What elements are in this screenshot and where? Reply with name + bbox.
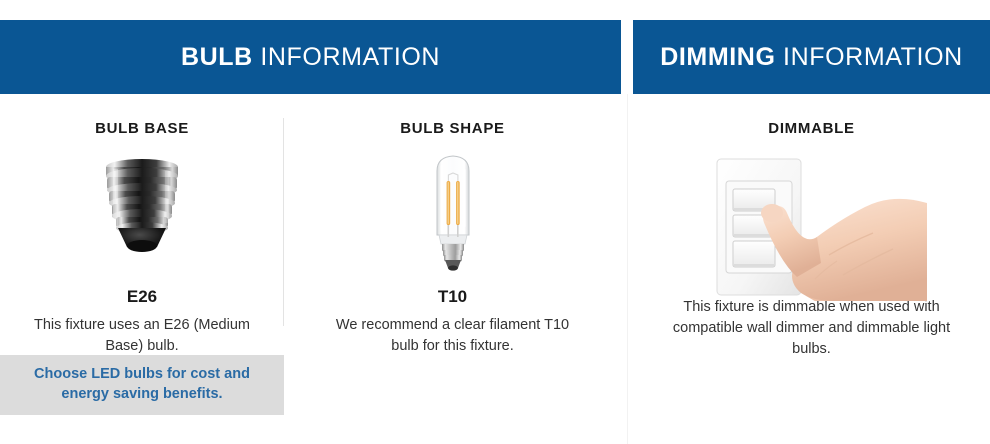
- bulb-base-value: E26: [0, 287, 284, 307]
- bulb-information-header: BULB INFORMATION: [0, 20, 621, 94]
- e26-screw-base-icon: [103, 157, 181, 255]
- dimming-information-title-strong: DIMMING: [660, 43, 775, 71]
- dimming-information-header: DIMMING INFORMATION: [633, 20, 990, 94]
- dimming-description: This fixture is dimmable when used with …: [667, 297, 957, 360]
- bulb-information-title-strong: BULB: [181, 43, 253, 71]
- bulb-shape-value: T10: [284, 287, 621, 307]
- section-divider: [627, 94, 628, 444]
- hand-pressing-wall-dimmer-icon: [697, 151, 927, 301]
- bulb-shape-column: BULB SHAPE: [284, 94, 621, 444]
- bulb-information-title: BULB INFORMATION: [181, 43, 440, 72]
- t10-tubular-filament-bulb-icon: [427, 151, 479, 275]
- dimmable-title: DIMMABLE: [633, 120, 990, 137]
- bulb-base-description: This fixture uses an E26 (Medium Base) b…: [17, 315, 267, 357]
- bulb-and-dimming-information-panel: BULB INFORMATION DIMMING INFORMATION BUL…: [0, 0, 990, 444]
- bulb-shape-figure: [284, 151, 621, 281]
- dimmable-figure: [633, 151, 990, 281]
- body-area: BULB BASE: [0, 94, 990, 444]
- bulb-base-title: BULB BASE: [0, 120, 284, 137]
- bulb-shape-title: BULB SHAPE: [284, 120, 621, 137]
- bulb-information-title-rest: INFORMATION: [253, 43, 440, 71]
- led-callout-text: Choose LED bulbs for cost and energy sav…: [17, 365, 267, 404]
- bulb-base-column: BULB BASE: [0, 94, 284, 444]
- bulb-shape-description: We recommend a clear filament T10 bulb f…: [328, 315, 578, 357]
- dimming-column: DIMMABLE: [633, 94, 990, 444]
- dimming-information-title-rest: INFORMATION: [776, 43, 963, 71]
- led-callout: Choose LED bulbs for cost and energy sav…: [0, 355, 284, 415]
- header-row: BULB INFORMATION DIMMING INFORMATION: [0, 20, 990, 94]
- bulb-base-figure: [0, 151, 284, 281]
- dimming-information-title: DIMMING INFORMATION: [660, 43, 963, 72]
